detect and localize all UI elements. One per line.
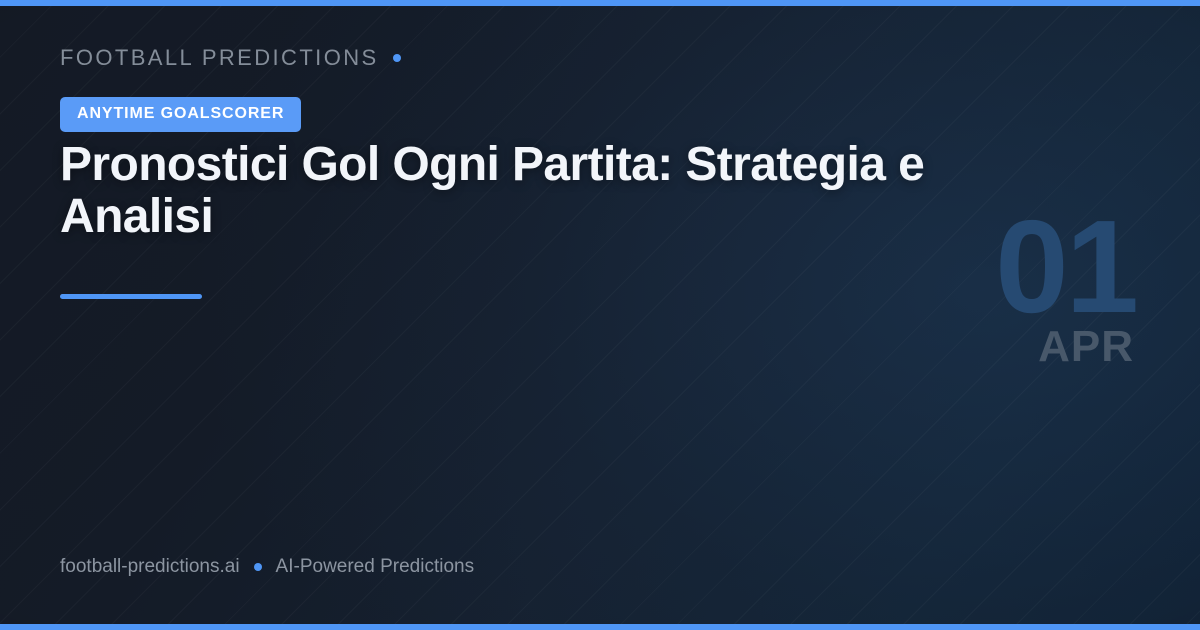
eyebrow-label: FOOTBALL PREDICTIONS [60, 45, 379, 71]
blue-dot-icon [393, 54, 401, 62]
card-content: FOOTBALL PREDICTIONS ANYTIME GOALSCORER … [60, 0, 1020, 630]
footer: football-predictions.ai AI-Powered Predi… [60, 556, 474, 578]
blue-dot-icon [254, 563, 262, 571]
category-badge[interactable]: ANYTIME GOALSCORER [60, 97, 301, 132]
page-title: Pronostici Gol Ogni Partita: Strategia e… [60, 139, 1070, 243]
social-share-card: 01 APR FOOTBALL PREDICTIONS ANYTIME GOAL… [0, 0, 1200, 630]
footer-tagline: AI-Powered Predictions [276, 556, 475, 578]
accent-underline [60, 294, 202, 299]
eyebrow: FOOTBALL PREDICTIONS [60, 45, 401, 71]
footer-site-url[interactable]: football-predictions.ai [60, 556, 240, 578]
